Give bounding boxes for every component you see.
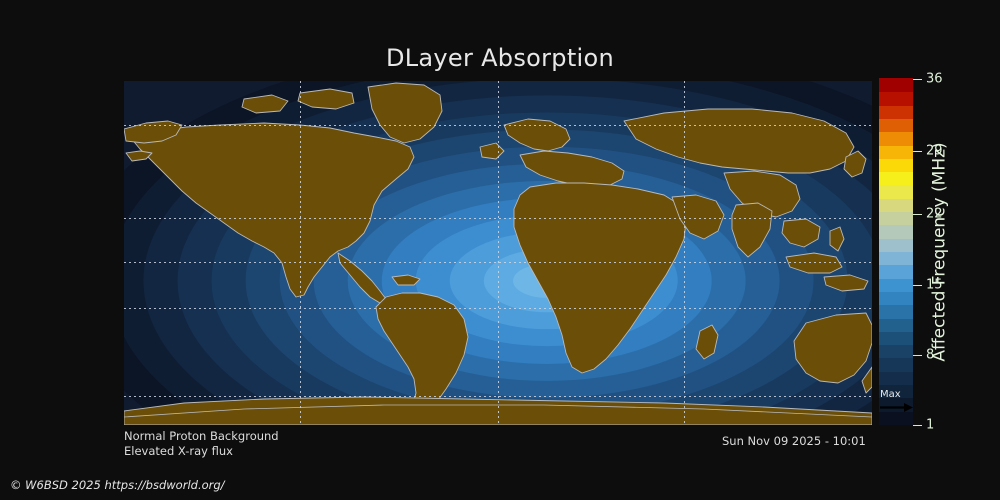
colorbar-tick: [913, 151, 922, 152]
colorbar-band: [879, 118, 913, 132]
colorbar[interactable]: Max: [879, 79, 913, 425]
colorbar-max-label: Max: [880, 389, 901, 400]
colorbar-tick: [913, 425, 922, 426]
colorbar-tick: [913, 79, 922, 80]
copyright-footer: © W6BSD 2025 https://bsdworld.org/: [10, 478, 225, 492]
colorbar-band: [879, 251, 913, 265]
colorbar-band: [879, 145, 913, 159]
colorbar-band: [879, 78, 913, 92]
colorbar-band: [879, 105, 913, 119]
xray-status-text: Elevated X-ray flux: [124, 444, 279, 459]
colorbar-band: [879, 291, 913, 305]
colorbar-tick: [913, 214, 922, 215]
colorbar-band: [879, 358, 913, 372]
colorbar-band: [879, 265, 913, 279]
proton-status-text: Normal Proton Background: [124, 429, 279, 444]
coastline-overlay: [124, 81, 872, 425]
colorbar-band: [879, 211, 913, 225]
colorbar-band: [879, 158, 913, 172]
colorbar-band: [879, 318, 913, 332]
colorbar-band: [879, 185, 913, 199]
colorbar-band: [879, 305, 913, 319]
max-arrow-icon: [880, 403, 913, 412]
dlayer-absorption-app: DLayer Absorption: [0, 0, 1000, 500]
colorbar-band: [879, 225, 913, 239]
status-annotations: Normal Proton Background Elevated X-ray …: [124, 429, 279, 459]
colorbar-gradient: [879, 79, 913, 425]
colorbar-band: [879, 331, 913, 345]
colorbar-max-marker: Max: [879, 391, 913, 415]
colorbar-tick: [913, 285, 922, 286]
colorbar-band: [879, 92, 913, 106]
colorbar-band: [879, 278, 913, 292]
world-absorption-map[interactable]: [124, 81, 872, 425]
colorbar-band: [879, 345, 913, 359]
colorbar-band: [879, 172, 913, 186]
page-title: DLayer Absorption: [0, 44, 1000, 72]
colorbar-axis-title-text: Affected Frequency (MHz): [930, 142, 950, 361]
timestamp: Sun Nov 09 2025 - 10:01: [722, 434, 866, 448]
colorbar-band: [879, 132, 913, 146]
colorbar-tick: [913, 355, 922, 356]
colorbar-band: [879, 371, 913, 385]
colorbar-band: [879, 238, 913, 252]
colorbar-axis-title: Affected Frequency (MHz): [926, 79, 954, 425]
colorbar-band: [879, 198, 913, 212]
